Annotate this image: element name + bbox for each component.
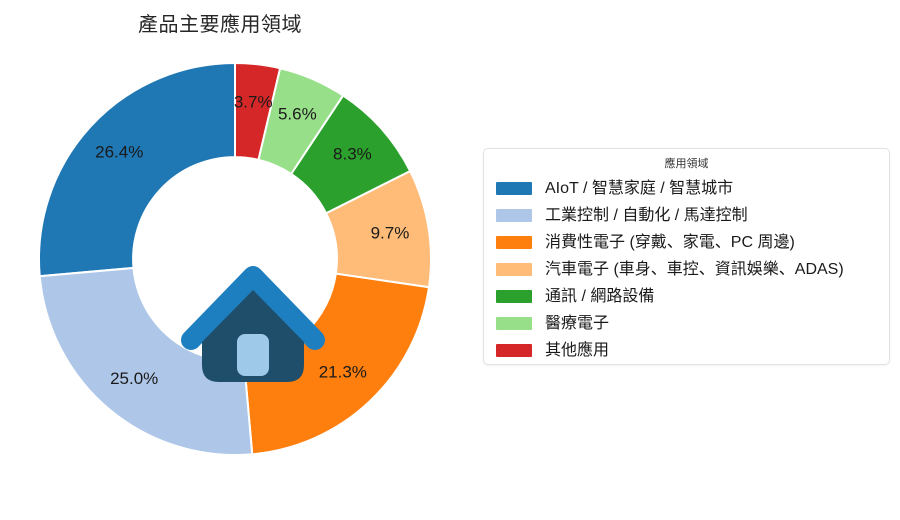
legend-swatch: [496, 317, 532, 330]
legend-item-label: 工業控制 / 自動化 / 馬達控制: [545, 207, 748, 225]
donut-slice-label: 8.3%: [333, 144, 372, 163]
donut-slice-label: 9.7%: [371, 223, 410, 242]
legend-swatch: [496, 263, 532, 276]
donut-slice[interactable]: [40, 268, 252, 455]
donut-slice-label: 25.0%: [110, 369, 158, 388]
donut-slice-label: 5.6%: [278, 104, 317, 123]
legend-item-label: AIoT / 智慧家庭 / 智慧城市: [545, 180, 733, 198]
legend-item-label: 其他應用: [545, 342, 609, 360]
legend-swatch: [496, 209, 532, 222]
legend-swatch: [496, 182, 532, 195]
legend-item-label: 通訊 / 網路設備: [545, 288, 654, 306]
legend-item[interactable]: 其他應用: [484, 337, 889, 364]
donut-slice-label: 3.7%: [234, 93, 273, 112]
legend-item-label: 醫療電子: [545, 315, 609, 333]
legend-title: 應用領域: [484, 157, 889, 171]
legend-item[interactable]: 醫療電子: [484, 310, 889, 337]
legend-item-label: 汽車電子 (車身、車控、資訊娛樂、ADAS): [545, 261, 844, 279]
legend-swatch: [496, 290, 532, 303]
donut-slice-label: 21.3%: [319, 363, 367, 382]
legend-item-label: 消費性電子 (穿戴、家電、PC 周邊): [545, 234, 795, 252]
chart-title: 產品主要應用領域: [138, 8, 302, 37]
donut-slice[interactable]: [39, 63, 235, 276]
legend-item[interactable]: 工業控制 / 自動化 / 馬達控制: [484, 202, 889, 229]
donut-svg: 26.4%3.7%5.6%8.3%9.7%21.3%25.0%: [18, 46, 454, 486]
legend-swatch: [496, 236, 532, 249]
legend-swatch: [496, 344, 532, 357]
legend-item[interactable]: AIoT / 智慧家庭 / 智慧城市: [484, 175, 889, 202]
legend-items: AIoT / 智慧家庭 / 智慧城市工業控制 / 自動化 / 馬達控制消費性電子…: [484, 175, 889, 364]
legend-item[interactable]: 通訊 / 網路設備: [484, 283, 889, 310]
donut-slice-label: 26.4%: [95, 142, 143, 161]
donut-chart: 26.4%3.7%5.6%8.3%9.7%21.3%25.0%: [18, 46, 454, 486]
donut-slices: [39, 63, 431, 455]
legend-item[interactable]: 消費性電子 (穿戴、家電、PC 周邊): [484, 229, 889, 256]
legend: 應用領域 AIoT / 智慧家庭 / 智慧城市工業控制 / 自動化 / 馬達控制…: [483, 148, 890, 365]
legend-item[interactable]: 汽車電子 (車身、車控、資訊娛樂、ADAS): [484, 256, 889, 283]
